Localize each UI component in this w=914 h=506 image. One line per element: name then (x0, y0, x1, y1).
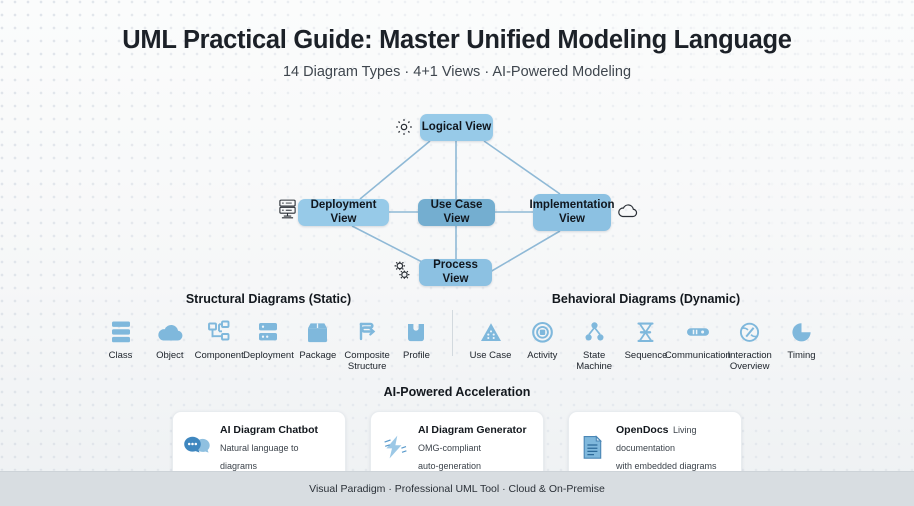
node-label: Process View (419, 259, 492, 287)
deployment-server-icon (256, 319, 280, 345)
cloud-icon (617, 203, 639, 225)
server-icon (277, 198, 298, 225)
structural-diagrams-group: Structural Diagrams (Static) Class (96, 292, 441, 373)
ai-card-description: Natural language to diagrams (220, 443, 299, 471)
desc-line2: diagrams (220, 461, 257, 471)
object-cloud-icon (156, 319, 184, 345)
ai-card-text: AI Diagram Chatbot Natural language to d… (220, 420, 335, 474)
chat-bubbles-icon (183, 435, 211, 460)
diagram-type-component[interactable]: Component (195, 319, 244, 373)
diagram-type-label: Package (299, 351, 336, 362)
diagram-type-use-case[interactable]: Use Case (466, 319, 515, 373)
profile-icon (404, 319, 428, 345)
gear-icon (394, 117, 414, 142)
diagram-type-label: Deployment (243, 351, 294, 362)
node-label-line1: Implementation (530, 199, 615, 211)
ai-card-text: OpenDocs Living documentation with embed… (616, 420, 731, 474)
footer-text: Visual Paradigm · Professional UML Tool … (309, 483, 605, 495)
interaction-overview-icon (737, 319, 762, 345)
activity-icon (530, 319, 555, 345)
page-subtitle: 14 Diagram Types · 4+1 Views · AI-Powere… (0, 64, 914, 80)
node-use-case-view[interactable]: Use Case View (418, 199, 495, 226)
desc-line2: with embedded diagrams (616, 461, 717, 471)
label-line2: Overview (730, 361, 770, 372)
category-divider (452, 310, 453, 356)
label-line1: Composite (344, 350, 389, 361)
node-logical-view[interactable]: Logical View (420, 114, 493, 141)
ai-card-text: AI Diagram Generator OMG-compliant auto-… (418, 420, 533, 474)
four-plus-one-view-diagram: Logical View Deployment View Use Case Vi… (0, 100, 914, 290)
diagram-type-label: Class (109, 351, 133, 362)
node-label: Logical View (422, 121, 491, 135)
diagram-type-label: Profile (403, 351, 430, 362)
node-label: Deployment View (298, 199, 389, 227)
state-machine-icon (582, 319, 607, 345)
ai-card-title: AI Diagram Generator (418, 424, 527, 436)
label-line1: State (583, 350, 605, 361)
composite-structure-icon (355, 319, 379, 345)
diagram-type-interaction-overview[interactable]: Interaction Overview (725, 319, 774, 373)
diagram-type-class[interactable]: Class (96, 319, 145, 373)
diagram-type-package[interactable]: Package (293, 319, 342, 373)
lightning-bolt-icon (381, 434, 409, 460)
diagram-type-sequence[interactable]: Sequence (621, 319, 670, 373)
diagram-type-label: Activity (527, 351, 557, 362)
diagram-type-label: Timing (787, 351, 815, 362)
structural-title: Structural Diagrams (Static) (96, 292, 441, 306)
ai-card-title: AI Diagram Chatbot (220, 424, 318, 436)
diagram-type-timing[interactable]: Timing (777, 319, 826, 373)
behavioral-title: Behavioral Diagrams (Dynamic) (466, 292, 826, 306)
label-line2: Structure (348, 361, 387, 372)
communication-icon (684, 319, 712, 345)
diagram-type-activity[interactable]: Activity (518, 319, 567, 373)
document-icon (579, 434, 607, 461)
package-icon (305, 319, 330, 345)
timing-icon (789, 319, 814, 345)
diagram-type-composite-structure[interactable]: Composite Structure (343, 319, 392, 373)
desc-line1: Natural language to (220, 443, 299, 453)
ai-card-title: OpenDocs (616, 424, 669, 436)
page-header: UML Practical Guide: Master Unified Mode… (0, 26, 914, 80)
ai-card-description: OMG-compliant auto-generation (418, 443, 481, 471)
diagram-type-label: Interaction Overview (727, 351, 771, 373)
diagram-type-label: State Machine (576, 351, 612, 373)
node-implementation-view[interactable]: Implementation View (533, 194, 611, 231)
node-label: Use Case View (418, 199, 495, 227)
label-line2: Machine (576, 361, 612, 372)
class-icon (109, 319, 133, 345)
infographic-stage: UML Practical Guide: Master Unified Mode… (0, 0, 914, 506)
diagram-type-deployment[interactable]: Deployment (244, 319, 293, 373)
diagram-type-object[interactable]: Object (145, 319, 194, 373)
diagram-type-label: Component (195, 351, 244, 362)
page-title: UML Practical Guide: Master Unified Mode… (0, 26, 914, 55)
sequence-icon (633, 319, 658, 345)
process-gears-icon (391, 260, 413, 287)
diagram-type-profile[interactable]: Profile (392, 319, 441, 373)
diagram-type-label: Communication (665, 351, 731, 362)
use-case-icon (478, 319, 504, 345)
node-deployment-view[interactable]: Deployment View (298, 199, 389, 226)
desc-line1: OMG-compliant (418, 443, 481, 453)
node-label-line2: View (559, 213, 585, 225)
ai-section-title: AI-Powered Acceleration (0, 385, 914, 399)
node-label: Implementation View (530, 199, 615, 227)
diagram-type-label: Use Case (470, 351, 512, 362)
desc-line2: auto-generation (418, 461, 481, 471)
diagram-type-label: Composite Structure (344, 351, 389, 373)
diagram-type-label: Sequence (625, 351, 668, 362)
behavioral-diagrams-group: Behavioral Diagrams (Dynamic) Use Case (466, 292, 826, 373)
label-line1: Interaction (727, 350, 771, 361)
diagram-type-label: Object (156, 351, 183, 362)
footer-bar: Visual Paradigm · Professional UML Tool … (0, 471, 914, 506)
node-process-view[interactable]: Process View (419, 259, 492, 286)
diagram-type-communication[interactable]: Communication (673, 319, 722, 373)
ai-acceleration-section: AI-Powered Acceleration AI Diagram Chatb… (0, 385, 914, 483)
component-icon (206, 319, 232, 345)
diagram-type-state-machine[interactable]: State Machine (570, 319, 619, 373)
